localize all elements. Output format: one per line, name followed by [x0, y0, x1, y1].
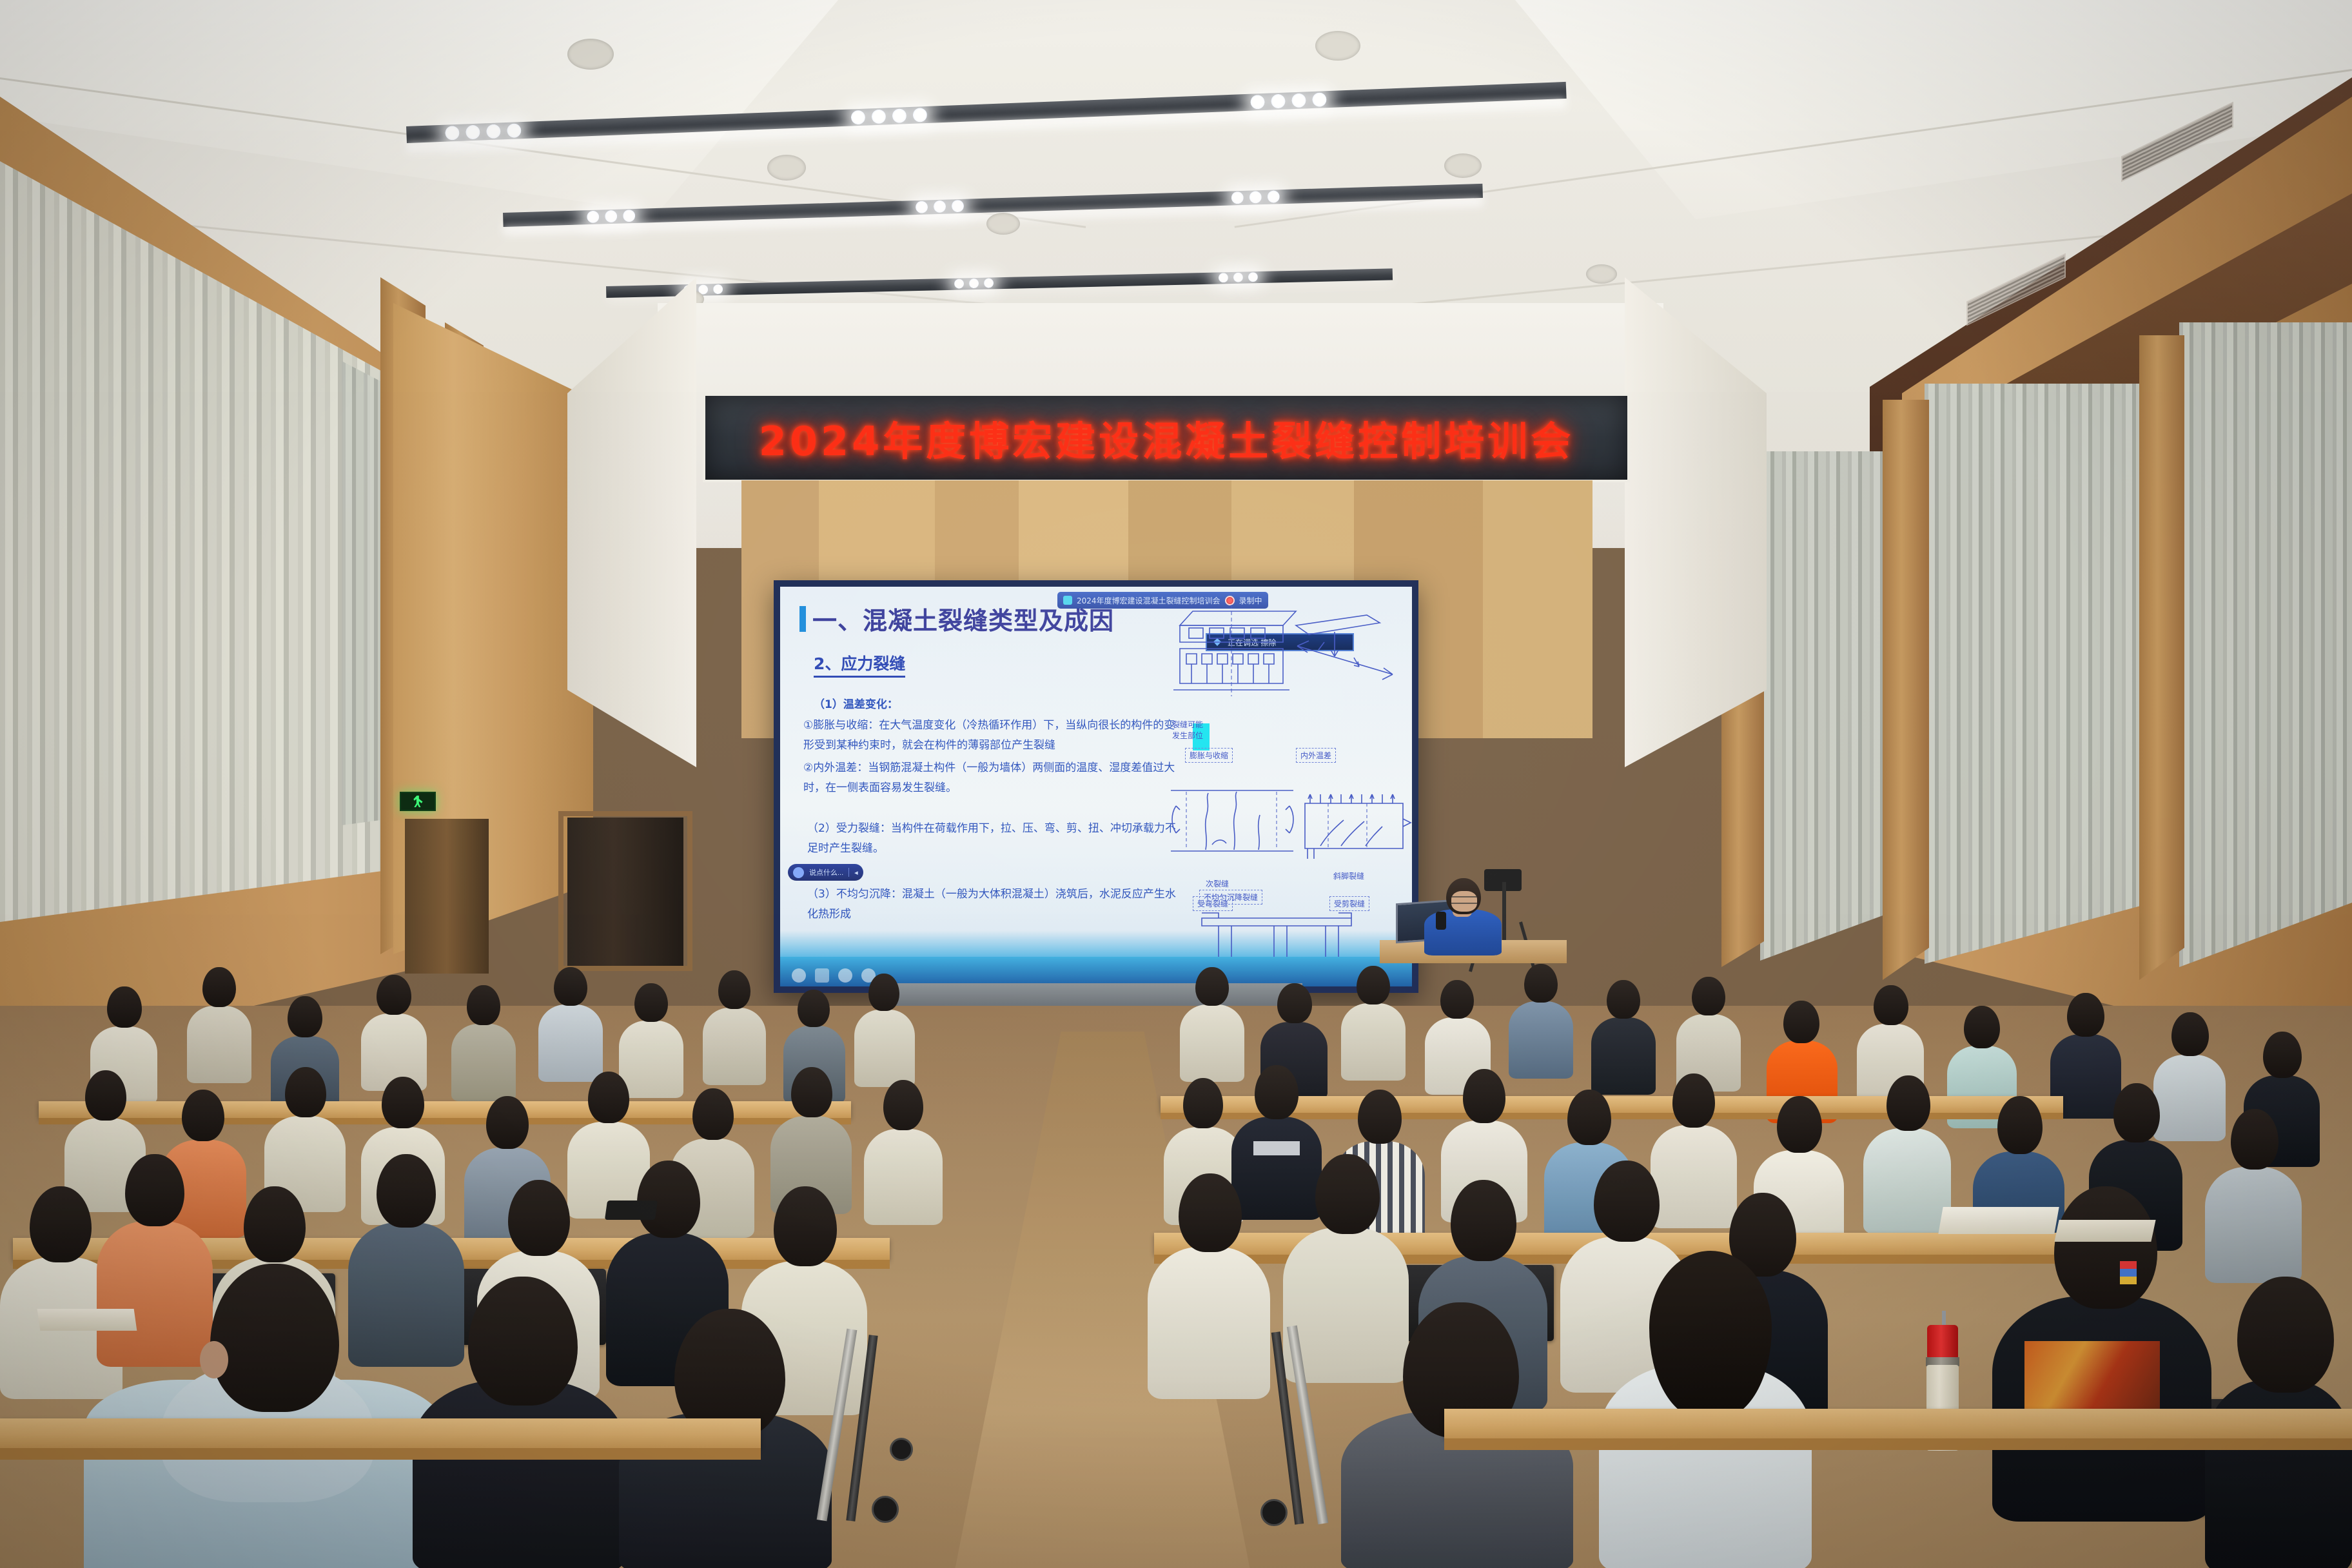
audience-member	[361, 975, 427, 1091]
head	[774, 1186, 837, 1266]
head	[202, 967, 236, 1007]
left-wall-door-recess	[405, 819, 489, 974]
presenter-glasses	[1451, 896, 1477, 904]
head	[1594, 1161, 1660, 1242]
diagram-bending-crack	[1167, 780, 1302, 877]
ceiling-lamp	[623, 210, 636, 222]
shirt-graphic-print	[2024, 1341, 2160, 1412]
right-window-curtain	[2179, 322, 2352, 967]
head	[2171, 1012, 2209, 1056]
audience-member	[1341, 966, 1406, 1082]
head	[1357, 966, 1390, 1004]
head	[288, 996, 322, 1037]
head	[1524, 964, 1558, 1003]
audience-member	[1148, 1173, 1270, 1399]
ceiling-lamp	[892, 108, 907, 123]
led-banner: 2024年度博宏建设混凝土裂缝控制培训会	[703, 393, 1630, 482]
more-icon[interactable]	[838, 968, 852, 983]
ceiling-lamp	[1291, 93, 1306, 108]
ceiling-speaker-icon	[1444, 153, 1482, 178]
audience-member	[538, 967, 603, 1083]
front-doorway	[567, 818, 683, 966]
notebook-on-desk	[1938, 1207, 2059, 1234]
torso	[538, 1004, 603, 1082]
head	[2263, 1032, 2302, 1078]
exit-sign	[400, 792, 436, 811]
diagram-caption-crack-possible: 裂缝可能	[1172, 719, 1203, 730]
ceiling-lamp	[952, 200, 965, 213]
head	[1440, 980, 1474, 1019]
ceiling-speaker-icon	[1586, 264, 1617, 284]
head	[1255, 1065, 1298, 1119]
head	[554, 967, 587, 1006]
head	[1183, 1078, 1223, 1128]
training-hall-photo: 2024年度博宏建设混凝土裂缝控制培训会 一、混凝土裂缝类型及成因 2、应力裂缝…	[0, 0, 2352, 1568]
ceiling-lamp	[1248, 272, 1258, 282]
torso	[413, 1380, 625, 1568]
ceiling-lamp	[872, 109, 887, 124]
desk-caster	[1260, 1499, 1288, 1526]
led-banner-text: 2024年度博宏建设混凝土裂缝控制培训会	[759, 409, 1574, 467]
head	[467, 985, 500, 1025]
ceiling-lamp	[1271, 94, 1286, 109]
diagram-label-expansion: 膨胀与收缩	[1185, 748, 1233, 763]
presenter	[1422, 877, 1505, 954]
ceiling-lamp	[851, 110, 866, 125]
head	[692, 1088, 734, 1140]
head	[244, 1186, 306, 1262]
head	[634, 983, 668, 1022]
torso	[1148, 1247, 1270, 1399]
head	[718, 970, 750, 1009]
head	[377, 1154, 436, 1228]
audience-member	[2205, 1109, 2302, 1283]
ceiling-lamp	[1249, 191, 1262, 204]
ceiling-speaker-icon	[1315, 31, 1360, 61]
desk	[1444, 1409, 2352, 1438]
ceiling-lamp	[969, 279, 979, 288]
head	[182, 1090, 224, 1141]
head	[1607, 980, 1640, 1019]
microphone-icon	[793, 867, 804, 878]
shirt-graphic	[1253, 1141, 1300, 1155]
head	[798, 990, 830, 1027]
diagram-caption-crack-location: 发生部位	[1172, 730, 1203, 741]
torso	[2205, 1167, 2302, 1283]
audience-member	[703, 970, 766, 1086]
say-something-label: 说点什么...	[809, 867, 843, 877]
head	[508, 1180, 570, 1256]
ceiling-lamp	[1233, 273, 1243, 282]
torso	[451, 1024, 516, 1101]
head	[1463, 1069, 1505, 1123]
audience-member	[187, 967, 251, 1083]
ceiling-lamp	[1219, 273, 1228, 282]
toolbar-divider	[848, 868, 849, 877]
torso	[854, 1010, 915, 1087]
head	[285, 1067, 326, 1117]
desk	[0, 1418, 761, 1448]
head	[637, 1161, 700, 1238]
head	[1964, 1006, 2000, 1048]
camera-icon[interactable]	[815, 968, 829, 983]
head	[210, 1264, 339, 1412]
microphone-handheld	[1436, 912, 1446, 930]
head	[1567, 1090, 1611, 1145]
head	[85, 1070, 126, 1121]
head	[1451, 1180, 1516, 1261]
head	[377, 975, 411, 1015]
head	[468, 1277, 578, 1406]
right-window-curtain	[1925, 384, 2141, 964]
head	[125, 1154, 184, 1226]
head	[1783, 1001, 1819, 1043]
slide-section-1-heading: （1）温差变化：	[814, 695, 1188, 715]
torso	[1509, 1001, 1573, 1079]
audience-member	[854, 974, 915, 1090]
audience-member	[451, 985, 516, 1101]
ceiling-lamp	[1231, 191, 1244, 204]
torso	[1863, 1128, 1951, 1234]
head	[791, 1067, 832, 1117]
share-icon[interactable]	[792, 968, 806, 983]
diagram-internal-external-temp	[1289, 612, 1412, 716]
desk-edge	[0, 1448, 761, 1460]
desk-caster	[890, 1438, 913, 1461]
head	[107, 986, 142, 1028]
ceiling-speaker-icon	[986, 213, 1020, 235]
ceiling-lamp	[1312, 92, 1327, 107]
torso	[1591, 1017, 1656, 1095]
running-man-icon	[413, 796, 423, 807]
ceiling-lamp	[587, 211, 600, 224]
head	[1315, 1154, 1380, 1234]
audience-member-blue-hoodie	[84, 1264, 445, 1568]
head	[1358, 1090, 1402, 1144]
right-wall-mullion	[2139, 335, 2184, 980]
torso	[1341, 1003, 1406, 1081]
title-accent-bar	[799, 606, 806, 632]
head	[883, 1080, 923, 1130]
shirt-logo	[2120, 1261, 2137, 1284]
diagram-shear-crack	[1296, 787, 1412, 877]
slide-section-2-text: （2）受力裂缝：当构件在荷载作用下，拉、压、弯、剪、扭、冲切承载力不足时产生裂缝…	[807, 819, 1181, 859]
say-something-toolbar[interactable]: 说点什么... ◂	[788, 864, 863, 881]
head	[1195, 967, 1229, 1006]
desk-edge	[1444, 1438, 2352, 1450]
audience-member	[864, 1080, 943, 1225]
slide-content: 一、混凝土裂缝类型及成因 2、应力裂缝 （1）温差变化： ①膨胀与收缩：在大气温…	[780, 587, 1412, 986]
ceiling-lamp	[486, 124, 501, 139]
torso	[2205, 1380, 2352, 1568]
head	[588, 1072, 629, 1123]
slide-paragraph-1: ①膨胀与收缩：在大气温度变化（冷热循环作用）下，当纵向很长的构件的变形受到某种约…	[803, 716, 1177, 756]
head	[2237, 1277, 2334, 1393]
head	[2054, 1186, 2157, 1309]
notebook-on-desk	[37, 1309, 137, 1331]
diagram-label-internal-external: 内外温差	[1296, 748, 1336, 763]
diagram-caption-secondary-crack: 次裂缝	[1206, 878, 1229, 889]
ceiling-lamp	[912, 108, 927, 122]
audience-member	[1591, 980, 1656, 1096]
audience-member	[1509, 964, 1573, 1080]
torso	[187, 1006, 251, 1083]
right-window-curtain	[1760, 451, 1883, 961]
ceiling-lamp	[934, 201, 946, 213]
ceiling-speaker-icon	[567, 39, 614, 70]
head	[868, 974, 899, 1011]
ceiling-lamp	[605, 210, 618, 223]
ear	[200, 1341, 228, 1378]
notebook-on-desk	[2054, 1220, 2155, 1242]
head	[1277, 983, 1312, 1023]
desk-caster	[872, 1496, 899, 1523]
ceiling-lamp	[465, 125, 480, 140]
ceiling-speaker-icon	[767, 155, 806, 181]
torso	[864, 1129, 943, 1225]
slide-section-3-text: （3）不均匀沉降：混凝土（一般为大体积混凝土）浇筑后，水泥反应产生水化热形成	[807, 885, 1181, 925]
projection-screen[interactable]: 一、混凝土裂缝类型及成因 2、应力裂缝 （1）温差变化： ①膨胀与收缩：在大气温…	[774, 580, 1418, 993]
ceiling-lamp	[1250, 95, 1265, 110]
slide-paragraph-2: ②内外温差：当钢筋混凝土构件（一般为墙体）两侧面的温度、湿度差值过大时，在一侧表…	[803, 758, 1177, 799]
ceiling-lamp	[713, 284, 723, 294]
phone-on-desk	[605, 1200, 658, 1220]
ceiling-lamp	[445, 126, 460, 141]
head	[2067, 993, 2104, 1037]
diagram-caption-slant-crack: 斜脚裂缝	[1333, 870, 1364, 881]
ceiling-lamp	[1268, 190, 1280, 203]
head	[486, 1096, 529, 1149]
bottle-cap	[1927, 1325, 1958, 1358]
ceiling-lamp	[916, 201, 928, 213]
head	[30, 1186, 92, 1262]
head	[1886, 1075, 1930, 1131]
head	[1692, 977, 1725, 1015]
head	[1777, 1096, 1822, 1153]
right-wall-mullion	[1883, 400, 1929, 980]
head	[2231, 1109, 2278, 1170]
head	[1179, 1173, 1242, 1252]
ceiling-lamp	[984, 278, 994, 288]
head	[1997, 1096, 2043, 1154]
collapse-chevron-icon[interactable]: ◂	[854, 868, 858, 877]
meeting-logo-icon	[1063, 596, 1072, 605]
ceiling-lamp	[954, 279, 964, 288]
torso	[703, 1008, 766, 1085]
audience-member	[1863, 1075, 1951, 1234]
head	[1874, 985, 1908, 1025]
ceiling-lamp	[507, 123, 522, 138]
diagram-label-settlement: 不均匀沉降裂缝	[1199, 890, 1262, 905]
head	[1672, 1073, 1715, 1128]
hair	[1649, 1251, 1772, 1418]
head	[382, 1077, 424, 1128]
head	[2113, 1083, 2160, 1142]
slide-subtitle: 2、应力裂缝	[814, 651, 905, 678]
